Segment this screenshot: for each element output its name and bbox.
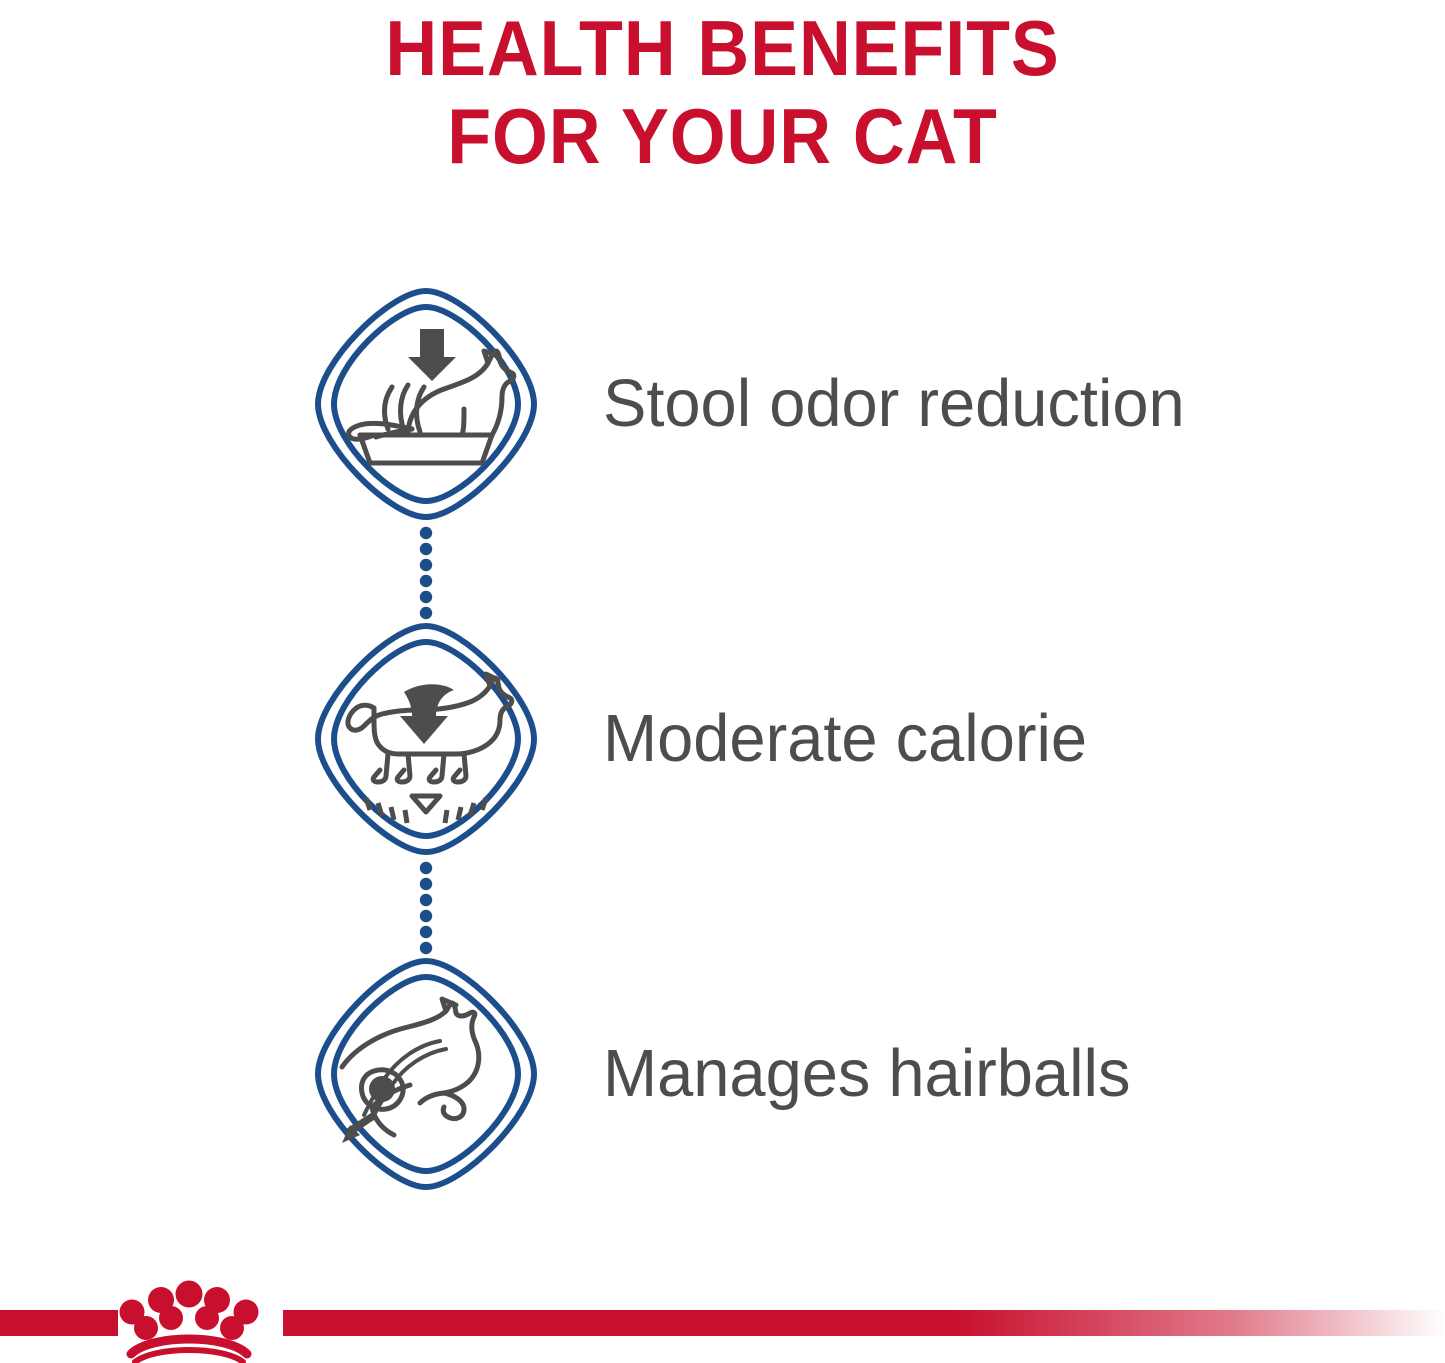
page-title: HEALTH BENEFITS FOR YOUR CAT xyxy=(0,0,1445,180)
footer-rule-left xyxy=(0,1310,118,1336)
dotted-connector xyxy=(412,860,440,956)
benefit-label: Stool odor reduction xyxy=(603,285,1185,523)
benefit-row: Moderate calorie xyxy=(0,620,1445,858)
benefit-row: Manages hairballs xyxy=(0,955,1445,1193)
title-line-2: FOR YOUR CAT xyxy=(58,92,1387,180)
dotted-connector xyxy=(412,525,440,621)
health-benefits-panel: HEALTH BENEFITS FOR YOUR CAT xyxy=(0,0,1445,1363)
benefit-label: Moderate calorie xyxy=(603,620,1087,858)
royal-canin-crown-logo xyxy=(109,1268,269,1363)
footer xyxy=(0,1260,1445,1363)
title-line-1: HEALTH BENEFITS xyxy=(58,0,1387,92)
benefits-list: Stool odor reduction xyxy=(0,285,1445,1193)
cat-weight-scale-down-arrow-icon xyxy=(312,620,540,858)
benefit-label: Manages hairballs xyxy=(603,955,1130,1193)
cat-litter-box-down-arrow-icon xyxy=(312,285,540,523)
cat-hairball-digestive-tract-icon xyxy=(312,955,540,1193)
benefit-row: Stool odor reduction xyxy=(0,285,1445,523)
footer-rule-right xyxy=(283,1310,1445,1336)
